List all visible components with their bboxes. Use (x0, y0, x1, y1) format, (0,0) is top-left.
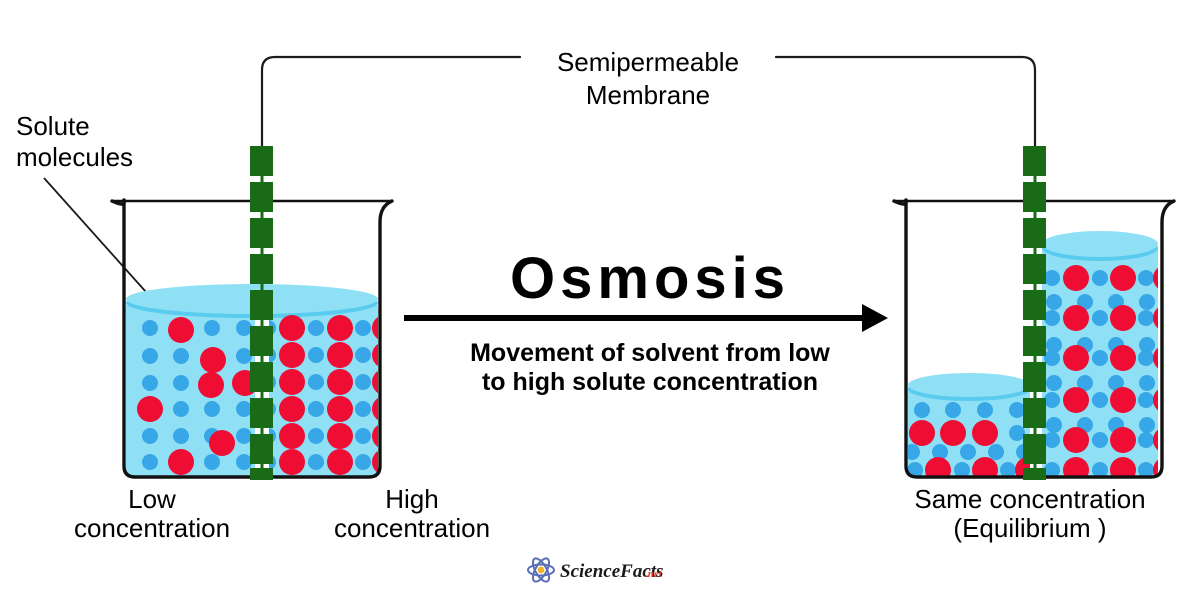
solute-molecule (327, 396, 353, 422)
solvent-molecule (945, 402, 961, 418)
solute-molecule (1110, 305, 1136, 331)
solute-molecule (1110, 387, 1136, 413)
solute-label-line1: Solute (16, 111, 90, 141)
solute-molecule (372, 315, 398, 341)
solvent-molecule (355, 401, 371, 417)
membrane-leader-left (262, 57, 520, 170)
solvent-molecule (1046, 375, 1062, 391)
solute-molecule (1153, 305, 1179, 331)
solvent-molecule (1138, 310, 1154, 326)
solute-molecule (279, 396, 305, 422)
solvent-molecule (236, 428, 252, 444)
solute-molecule (168, 449, 194, 475)
solvent-molecule (1009, 402, 1025, 418)
solvent-molecule (204, 454, 220, 470)
solvent-molecule (236, 348, 252, 364)
solvent-molecule (1138, 392, 1154, 408)
left-beaker-low-label-line2: concentration (74, 513, 230, 543)
solute-molecule (1153, 427, 1179, 453)
solvent-molecule (1092, 392, 1108, 408)
solute-molecule (168, 317, 194, 343)
solvent-molecule (204, 320, 220, 336)
solute-molecule (1110, 265, 1136, 291)
solute-molecule (1063, 457, 1089, 483)
solvent-molecule (173, 401, 189, 417)
solvent-molecule (173, 375, 189, 391)
solute-molecule (372, 342, 398, 368)
solute-molecule (1063, 305, 1089, 331)
solute-molecule (1063, 387, 1089, 413)
solvent-molecule (308, 374, 324, 390)
solute-molecule (940, 420, 966, 446)
right-beaker-label-line2: (Equilibrium ) (953, 513, 1106, 543)
solute-molecule (372, 396, 398, 422)
solvent-molecule (142, 375, 158, 391)
solvent-molecule (355, 320, 371, 336)
atom-icon (528, 556, 554, 584)
left-beaker-high-label-line1: High (385, 484, 438, 514)
right-beaker-label-line1: Same concentration (914, 484, 1145, 514)
beaker-before: Low concentration High concentration (74, 146, 490, 543)
solvent-molecule (1044, 310, 1060, 326)
solute-molecule (372, 423, 398, 449)
solute-molecule (279, 315, 305, 341)
solvent-molecule (1092, 310, 1108, 326)
solvent-molecule (1138, 270, 1154, 286)
solute-molecule (1153, 387, 1179, 413)
solvent-molecule (1044, 392, 1060, 408)
solvent-molecule (1139, 375, 1155, 391)
solute-molecule (372, 449, 398, 475)
solute-molecule (1110, 427, 1136, 453)
solvent-molecule (1139, 294, 1155, 310)
solute-molecule (327, 342, 353, 368)
solvent-molecule (1044, 350, 1060, 366)
solvent-molecule (236, 454, 252, 470)
solvent-molecule (308, 454, 324, 470)
solute-molecule (327, 449, 353, 475)
solvent-molecule (977, 402, 993, 418)
liquid-surface-highlight-equilibrium-right (1042, 231, 1158, 257)
solvent-molecule (308, 428, 324, 444)
solute-molecule (279, 342, 305, 368)
page-title: Osmosis (510, 246, 790, 311)
solute-molecule (1153, 345, 1179, 371)
solvent-molecule (1138, 432, 1154, 448)
solute-molecule (198, 372, 224, 398)
solute-molecule (279, 449, 305, 475)
membrane-leader-right (776, 57, 1035, 170)
solvent-molecule (960, 444, 976, 460)
solvent-molecule (308, 320, 324, 336)
solvent-molecule (1009, 425, 1025, 441)
solvent-molecule (142, 320, 158, 336)
solvent-molecule (988, 444, 1004, 460)
solvent-molecule (142, 348, 158, 364)
solute-molecule (327, 423, 353, 449)
solute-molecule (209, 430, 235, 456)
solute-molecule (925, 457, 951, 483)
solvent-molecule (1138, 350, 1154, 366)
solvent-molecule (1092, 270, 1108, 286)
watermark-tld: .net (645, 568, 663, 580)
left-beaker-high-label-line2: concentration (334, 513, 490, 543)
solute-molecule (279, 369, 305, 395)
solvent-molecule (1139, 417, 1155, 433)
solvent-molecule (355, 454, 371, 470)
solvent-molecule (308, 347, 324, 363)
solvent-molecule (173, 348, 189, 364)
solvent-molecule (236, 401, 252, 417)
solvent-molecule (1044, 270, 1060, 286)
left-beaker-low-label-line1: Low (128, 484, 176, 514)
solvent-molecule (1044, 432, 1060, 448)
osmosis-center-block: Osmosis Movement of solvent from low to … (404, 246, 888, 396)
solvent-molecule (1092, 350, 1108, 366)
solute-molecule (200, 347, 226, 373)
solvent-molecule (1046, 294, 1062, 310)
solute-molecule (1063, 265, 1089, 291)
solute-molecule (372, 369, 398, 395)
solute-molecule (1153, 457, 1179, 483)
solute-molecule (1063, 427, 1089, 453)
solvent-molecule (355, 374, 371, 390)
solvent-molecule (1092, 432, 1108, 448)
solvent-molecule (173, 428, 189, 444)
solute-label-line2: molecules (16, 142, 133, 172)
solute-molecule (327, 369, 353, 395)
solute-molecule (1153, 265, 1179, 291)
osmosis-diagram-canvas: Semipermeable Membrane Solute molecules (0, 0, 1200, 594)
solvent-molecule (236, 320, 252, 336)
beaker-after: Same concentration (Equilibrium ) (894, 146, 1179, 543)
solute-molecule (972, 420, 998, 446)
solvent-molecule (308, 401, 324, 417)
solvent-molecule (142, 428, 158, 444)
solvent-molecule (204, 401, 220, 417)
solute-molecule (909, 420, 935, 446)
subtitle-line1: Movement of solvent from low (470, 339, 830, 367)
solute-molecule (279, 423, 305, 449)
solute-molecule (1110, 457, 1136, 483)
solvent-molecule (1046, 417, 1062, 433)
osmosis-illustration: Semipermeable Membrane Solute molecules (0, 0, 1200, 594)
solvent-molecule (142, 454, 158, 470)
solute-molecule (972, 457, 998, 483)
solute-molecule (1063, 345, 1089, 371)
watermark: ScienceFacts .net (528, 556, 663, 584)
solvent-molecule (355, 428, 371, 444)
membrane-label-line2: Membrane (586, 80, 710, 110)
membrane-label-line1: Semipermeable (557, 47, 739, 77)
solvent-molecule (914, 402, 930, 418)
solute-molecule (327, 315, 353, 341)
solvent-molecule (355, 347, 371, 363)
solute-molecule (1110, 345, 1136, 371)
liquid-surface-highlight-equilibrium-left (908, 373, 1030, 397)
solute-molecule (137, 396, 163, 422)
subtitle-line2: to high solute concentration (482, 368, 818, 396)
